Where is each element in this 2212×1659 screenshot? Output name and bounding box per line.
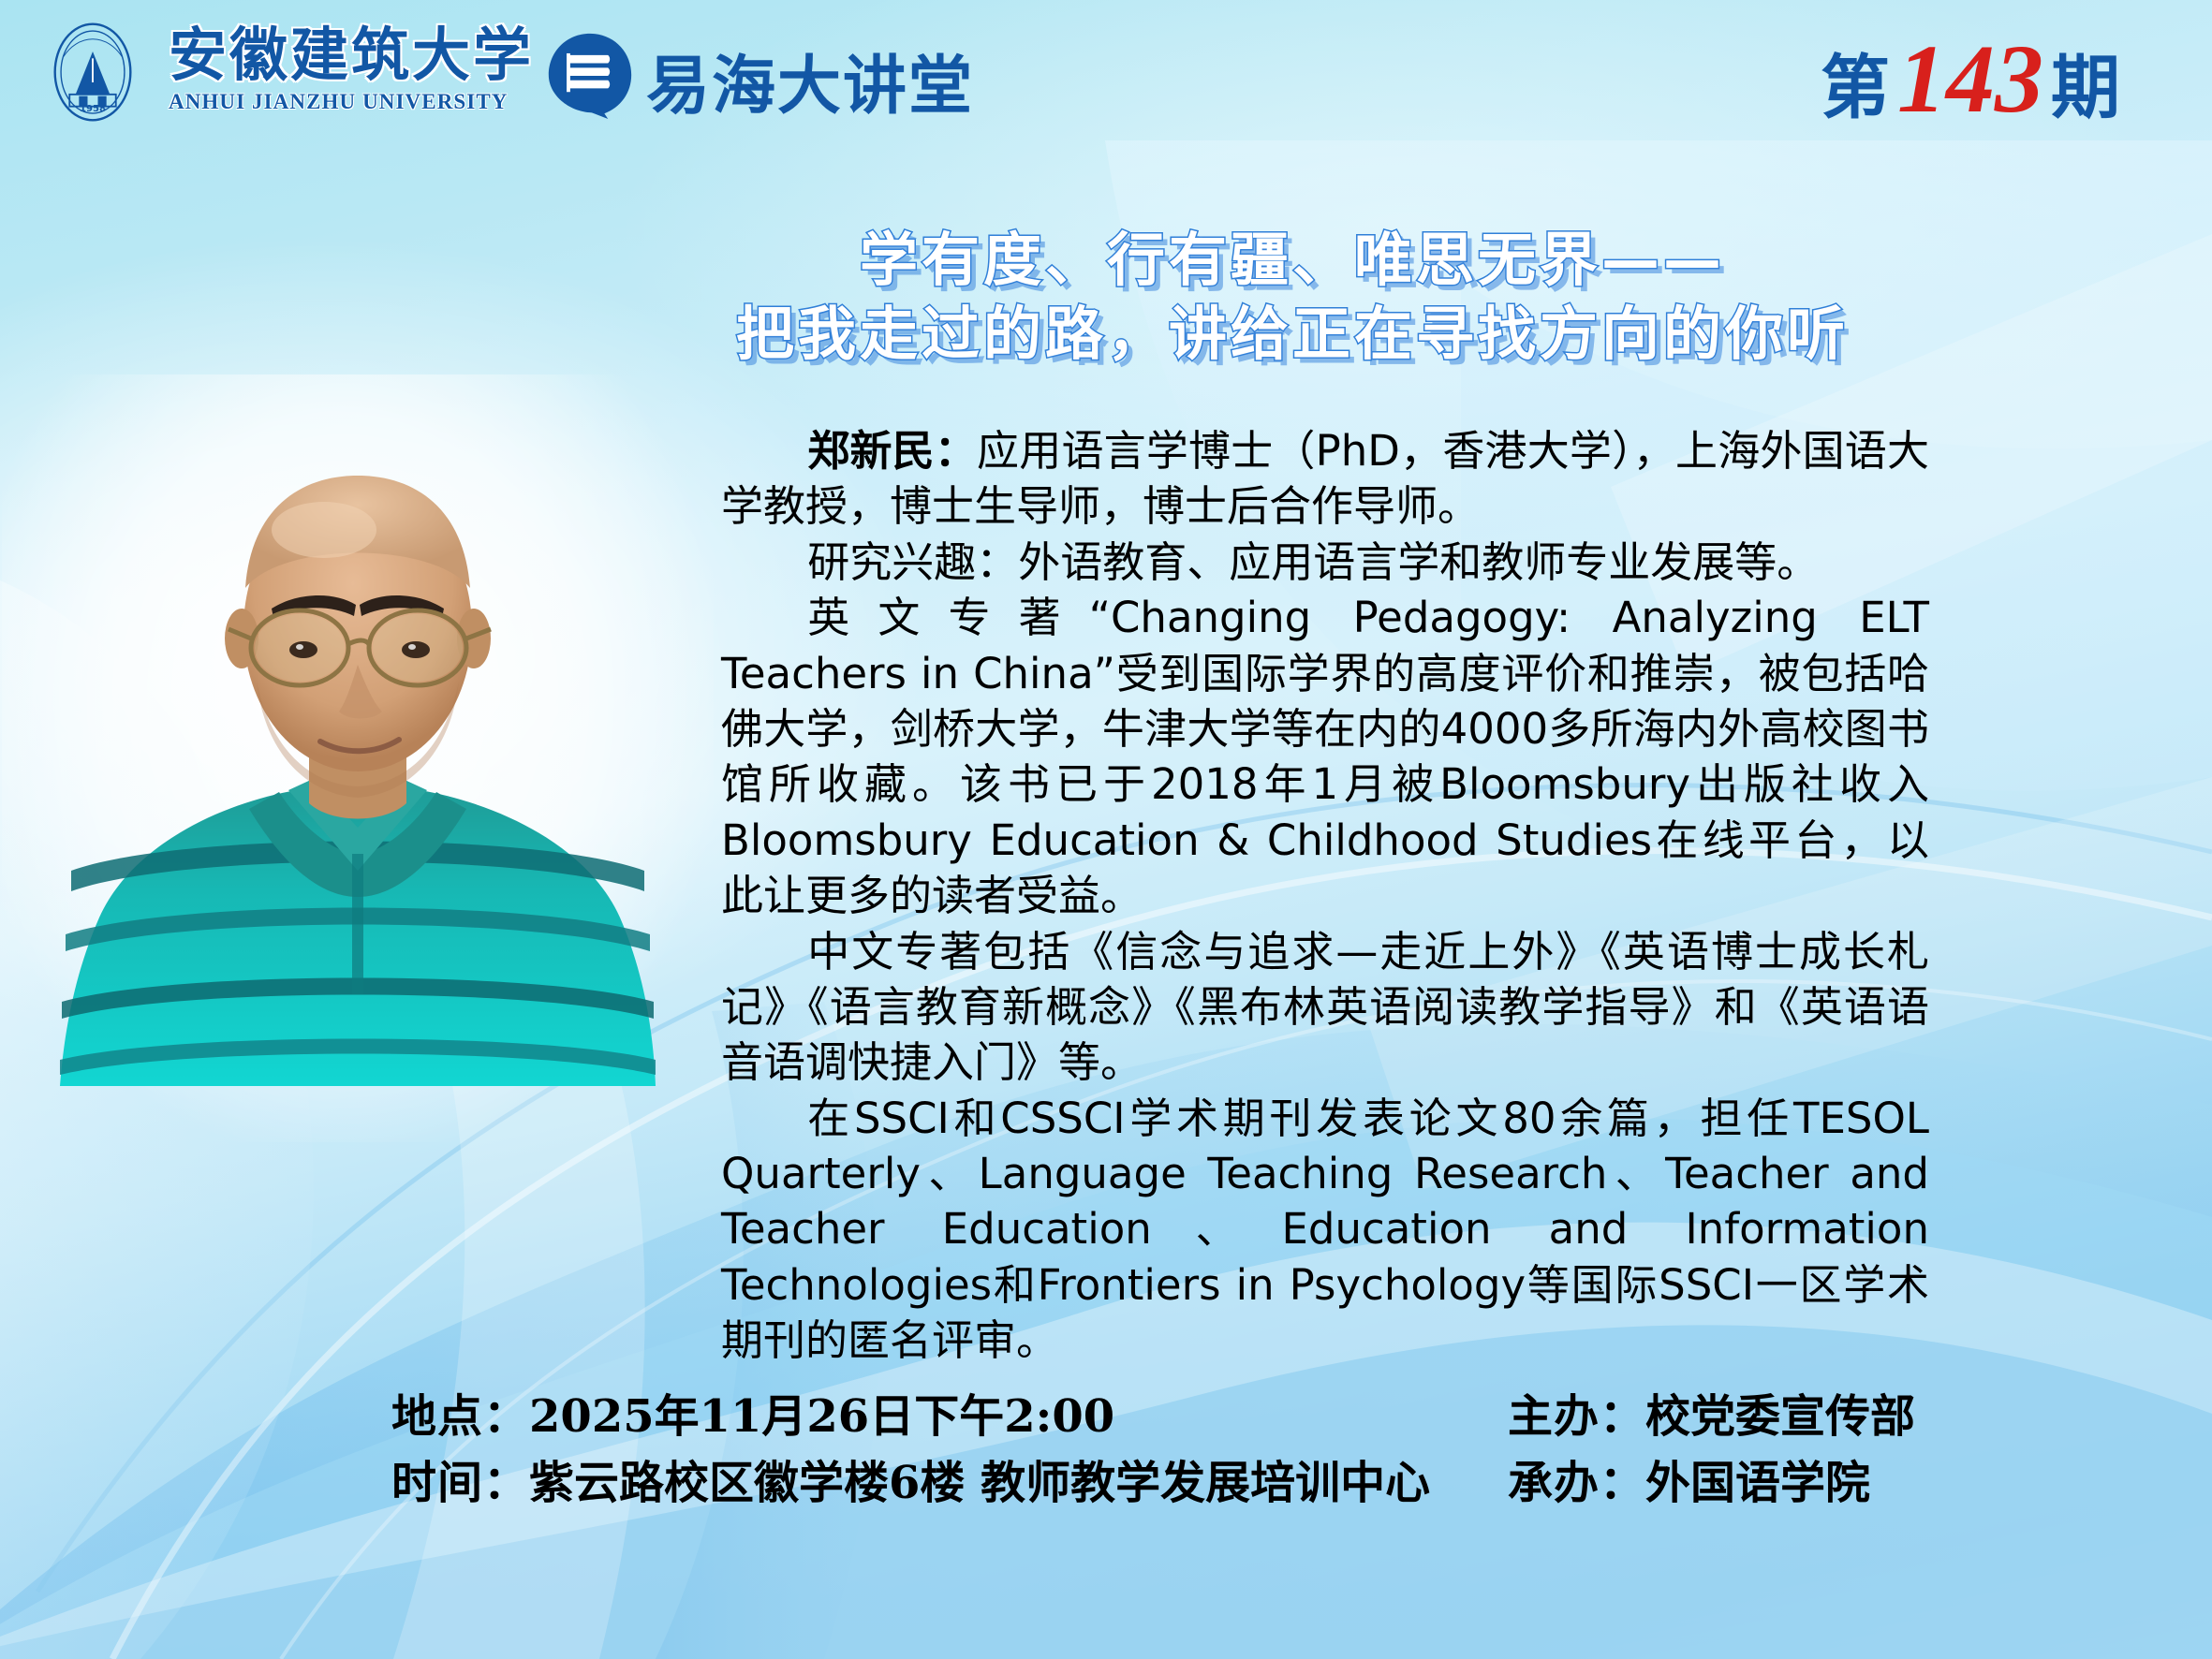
bio-paragraph-2: 研究兴趣：外语教育、应用语言学和教师专业发展等。: [721, 535, 1929, 590]
lecture-title: 学有度、行有疆、唯思无界—— 把我走过的路，讲给正在寻找方向的你听: [646, 223, 1939, 372]
footer-organizer-value: 外国语学院: [1645, 1457, 1870, 1509]
footer-place-row: 地点：2025年11月26日下午2:00: [391, 1384, 1430, 1450]
footer-left-column: 地点：2025年11月26日下午2:00 时间：紫云路校区徽学楼6楼 教师教学发…: [391, 1384, 1430, 1517]
poster-footer: 地点：2025年11月26日下午2:00 时间：紫云路校区徽学楼6楼 教师教学发…: [0, 1384, 2212, 1571]
university-name-block: 安徽建筑大学 ANHUI JIANZHU UNIVERSITY: [169, 24, 543, 114]
poster-canvas: 1958 安徽建筑大学 ANHUI JIANZHU UNIVERSITY 易海大…: [0, 0, 2212, 1659]
footer-time-row: 时间：紫云路校区徽学楼6楼 教师教学发展培训中心: [391, 1450, 1430, 1517]
issue-number: 143: [1897, 34, 2043, 126]
footer-right-column: 主办：校党委宣传部 承办：外国语学院: [1508, 1384, 1915, 1517]
footer-organizer-row: 承办：外国语学院: [1508, 1450, 1915, 1517]
footer-organizer-label: 承办：: [1508, 1457, 1645, 1509]
svg-text:1958: 1958: [80, 104, 106, 114]
issue-prefix: 第: [1821, 32, 1890, 132]
bio-paragraph-4: 中文专著包括《信念与追求—走近上外》《英语博士成长札记》《语言教育新概念》《黑布…: [721, 924, 1929, 1091]
footer-time-value: 紫云路校区徽学楼6楼 教师教学发展培训中心: [529, 1457, 1430, 1509]
footer-time-label: 时间：: [391, 1457, 529, 1509]
speaker-name: 郑新民：: [807, 426, 977, 476]
footer-host-label: 主办：: [1508, 1390, 1645, 1443]
bio-paragraph-3: 英文专著“Changing Pedagogy: Analyzing ELT Te…: [721, 590, 1929, 923]
issue-number-badge: 第 143 期: [1821, 32, 2120, 132]
footer-host-value: 校党委宣传部: [1645, 1390, 1915, 1443]
university-name-cn: 安徽建筑大学: [169, 24, 543, 85]
brand-name-cn: 易海大讲堂: [646, 34, 974, 126]
title-line-1: 学有度、行有疆、唯思无界——: [646, 223, 1939, 297]
portrait-illustration: [58, 431, 657, 1086]
footer-place-value: 2025年11月26日下午2:00: [529, 1390, 1114, 1443]
footer-place-label: 地点：: [391, 1390, 529, 1443]
university-crest-icon: 1958: [41, 21, 144, 124]
bio-paragraph-5: 在SSCI和CSSCI学术期刊发表论文80余篇，担任TESOL Quarterl…: [721, 1091, 1929, 1369]
footer-host-row: 主办：校党委宣传部: [1508, 1384, 1915, 1450]
university-name-en: ANHUI JIANZHU UNIVERSITY: [169, 90, 543, 114]
bio-paragraph-1: 郑新民：应用语言学博士（PhD，香港大学），上海外国语大学教授，博士生导师，博士…: [721, 423, 1929, 535]
poster-header: 1958 安徽建筑大学 ANHUI JIANZHU UNIVERSITY 易海大…: [0, 0, 2212, 140]
title-line-2: 把我走过的路，讲给正在寻找方向的你听: [646, 297, 1939, 371]
lecture-hall-speech-bubble-icon: [545, 30, 635, 120]
speaker-portrait: [58, 431, 657, 1086]
issue-suffix: 期: [2051, 32, 2120, 132]
speaker-bio: 郑新民：应用语言学博士（PhD，香港大学），上海外国语大学教授，博士生导师，博士…: [721, 423, 1929, 1369]
